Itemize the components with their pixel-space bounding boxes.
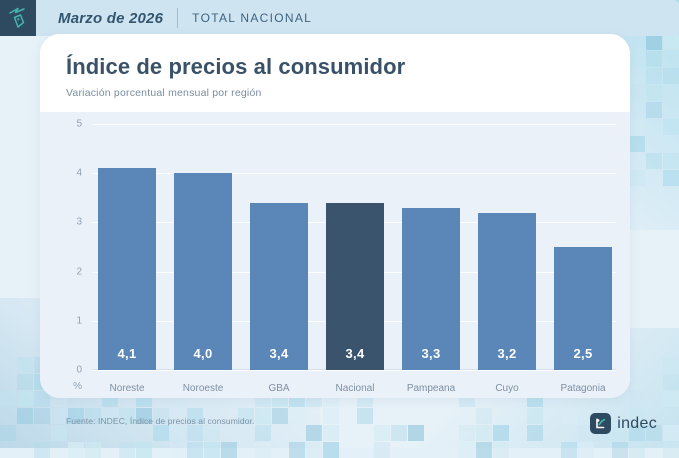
period-label: Marzo de 2026 [58, 10, 163, 27]
header-divider [177, 8, 178, 28]
mosaic-tile [85, 442, 101, 458]
bar-column[interactable]: 2,5 [552, 247, 614, 370]
y-axis-tick-label: 2 [56, 266, 82, 277]
mosaic-tile [119, 442, 135, 458]
mosaic-tile [17, 357, 33, 373]
mosaic-tile [187, 442, 203, 458]
mosaic-tile [663, 374, 679, 390]
mosaic-tile [663, 68, 679, 84]
mosaic-tile [255, 442, 271, 458]
mosaic-tile [323, 408, 339, 424]
mosaic-tile [663, 391, 679, 407]
chart-bars: 4,14,03,43,43,33,22,5 [96, 124, 614, 370]
bolt-tag-icon [7, 6, 29, 30]
mosaic-tile [204, 425, 220, 441]
mosaic-tile [510, 425, 526, 441]
bar-value-label: 3,3 [422, 346, 441, 361]
y-axis-tick-label: 1 [56, 315, 82, 326]
x-axis-category-label: Patagonia [552, 383, 614, 394]
mosaic-tile [374, 425, 390, 441]
mosaic-tile [629, 68, 645, 84]
x-axis-category-label: Nacional [324, 383, 386, 394]
bar-value-label: 4,0 [194, 346, 213, 361]
mosaic-tile [476, 442, 492, 458]
mosaic-tile [255, 425, 271, 441]
mosaic-tile [323, 425, 339, 441]
bar-highlighted[interactable]: 3,4 [326, 203, 384, 370]
mosaic-tile [663, 119, 679, 135]
mosaic-tile [374, 442, 390, 458]
bar[interactable]: 3,3 [402, 208, 460, 370]
mosaic-tile [646, 34, 662, 50]
mosaic-tile [17, 391, 33, 407]
mosaic-tile [476, 425, 492, 441]
mosaic-tile [493, 425, 509, 441]
bar-column[interactable]: 4,1 [96, 168, 158, 370]
mosaic-tile [527, 425, 543, 441]
mosaic-tile [459, 425, 475, 441]
mosaic-tile [272, 408, 288, 424]
mosaic-tile [578, 442, 594, 458]
mosaic-tile [663, 442, 679, 458]
mosaic-tile [306, 425, 322, 441]
y-axis-unit-label: % [56, 381, 82, 392]
bar[interactable]: 2,5 [554, 247, 612, 370]
chart-card: Índice de precios al consumidor Variació… [40, 34, 630, 398]
mosaic-tile [408, 425, 424, 441]
mosaic-tile [646, 153, 662, 169]
mosaic-tile [646, 85, 662, 101]
mosaic-tile [612, 442, 628, 458]
y-axis-tick-label: 3 [56, 217, 82, 228]
mosaic-tile [136, 442, 152, 458]
chart-plot-area: 543210 % 4,14,03,43,43,33,22,5 NoresteNo… [40, 112, 630, 398]
mosaic-tile [204, 442, 220, 458]
mosaic-tile [68, 442, 84, 458]
mosaic-tile [629, 391, 645, 407]
mosaic-tile [0, 425, 16, 441]
x-axis-category-label: Cuyo [476, 383, 538, 394]
brand-mark [0, 0, 36, 36]
x-axis-category-label: GBA [248, 383, 310, 394]
card-header: Índice de precios al consumidor Variació… [40, 34, 630, 112]
page-title: Índice de precios al consumidor [66, 54, 630, 80]
mosaic-tile [663, 153, 679, 169]
source-note: Fuente: INDEC, Índice de precios al cons… [66, 416, 254, 426]
mosaic-tile [629, 119, 645, 135]
y-axis-tick-label: 4 [56, 168, 82, 179]
mosaic-tile [34, 408, 50, 424]
bar-column[interactable]: 4,0 [172, 173, 234, 370]
mosaic-tile [646, 102, 662, 118]
bar-column[interactable]: 3,4 [248, 203, 310, 370]
mosaic-tile [17, 408, 33, 424]
gridline [92, 370, 616, 371]
scope-label: TOTAL NACIONAL [192, 11, 312, 25]
mosaic-tile [51, 425, 67, 441]
mosaic-tile [323, 442, 339, 458]
mosaic-tile [357, 408, 373, 424]
mosaic-tile [663, 425, 679, 441]
mosaic-tile [629, 136, 645, 152]
bar[interactable]: 4,1 [98, 168, 156, 370]
mosaic-tile [663, 34, 679, 50]
mosaic-tile [663, 170, 679, 186]
bar-column[interactable]: 3,3 [400, 208, 462, 370]
mosaic-tile [561, 442, 577, 458]
mosaic-tile [289, 442, 305, 458]
mosaic-tile [51, 408, 67, 424]
x-axis-category-label: Noreste [96, 383, 158, 394]
mosaic-tile [289, 408, 305, 424]
mosaic-tile [629, 85, 645, 101]
indec-mark-icon [590, 413, 611, 434]
bar-value-label: 3,4 [346, 346, 365, 361]
x-axis-category-label: Pampeana [400, 383, 462, 394]
y-axis-tick-label: 0 [56, 365, 82, 376]
mosaic-tile [646, 68, 662, 84]
mosaic-tile [459, 442, 475, 458]
mosaic-tile [646, 51, 662, 67]
bar-column[interactable]: 3,4 [324, 203, 386, 370]
bar-value-label: 3,4 [270, 346, 289, 361]
mosaic-tile [561, 408, 577, 424]
mosaic-tile [153, 425, 169, 441]
indec-logo: indec [590, 413, 657, 434]
mosaic-tile [170, 442, 186, 458]
mosaic-tile [306, 442, 322, 458]
mosaic-tile [17, 374, 33, 390]
bar[interactable]: 4,0 [174, 173, 232, 370]
bar[interactable]: 3,2 [478, 213, 536, 370]
mosaic-tile [391, 425, 407, 441]
indec-wordmark: indec [617, 415, 657, 433]
chart-subtitle: Variación porcentual mensual por región [66, 87, 630, 99]
mosaic-tile [629, 170, 645, 186]
x-axis-category-label: Noroeste [172, 383, 234, 394]
header-band-inner: Marzo de 2026 TOTAL NACIONAL [0, 0, 345, 36]
mosaic-tile [170, 425, 186, 441]
mosaic-tile [0, 391, 16, 407]
y-axis-tick-label: 5 [56, 119, 82, 130]
mosaic-tile [493, 442, 509, 458]
bar-value-label: 2,5 [574, 346, 593, 361]
bar-column[interactable]: 3,2 [476, 213, 538, 370]
mosaic-tile [221, 442, 237, 458]
mosaic-tile [476, 408, 492, 424]
x-axis-labels: NoresteNoroesteGBANacionalPampeanaCuyoPa… [96, 383, 614, 394]
mosaic-tile [34, 442, 50, 458]
bar-value-label: 4,1 [118, 346, 137, 361]
mosaic-tile [255, 408, 271, 424]
mosaic-tile [663, 357, 679, 373]
mosaic-tile [187, 425, 203, 441]
bar-value-label: 3,2 [498, 346, 517, 361]
mosaic-tile [629, 442, 645, 458]
bar[interactable]: 3,4 [250, 203, 308, 370]
mosaic-tile [527, 408, 543, 424]
header-band: Marzo de 2026 TOTAL NACIONAL [0, 0, 679, 36]
